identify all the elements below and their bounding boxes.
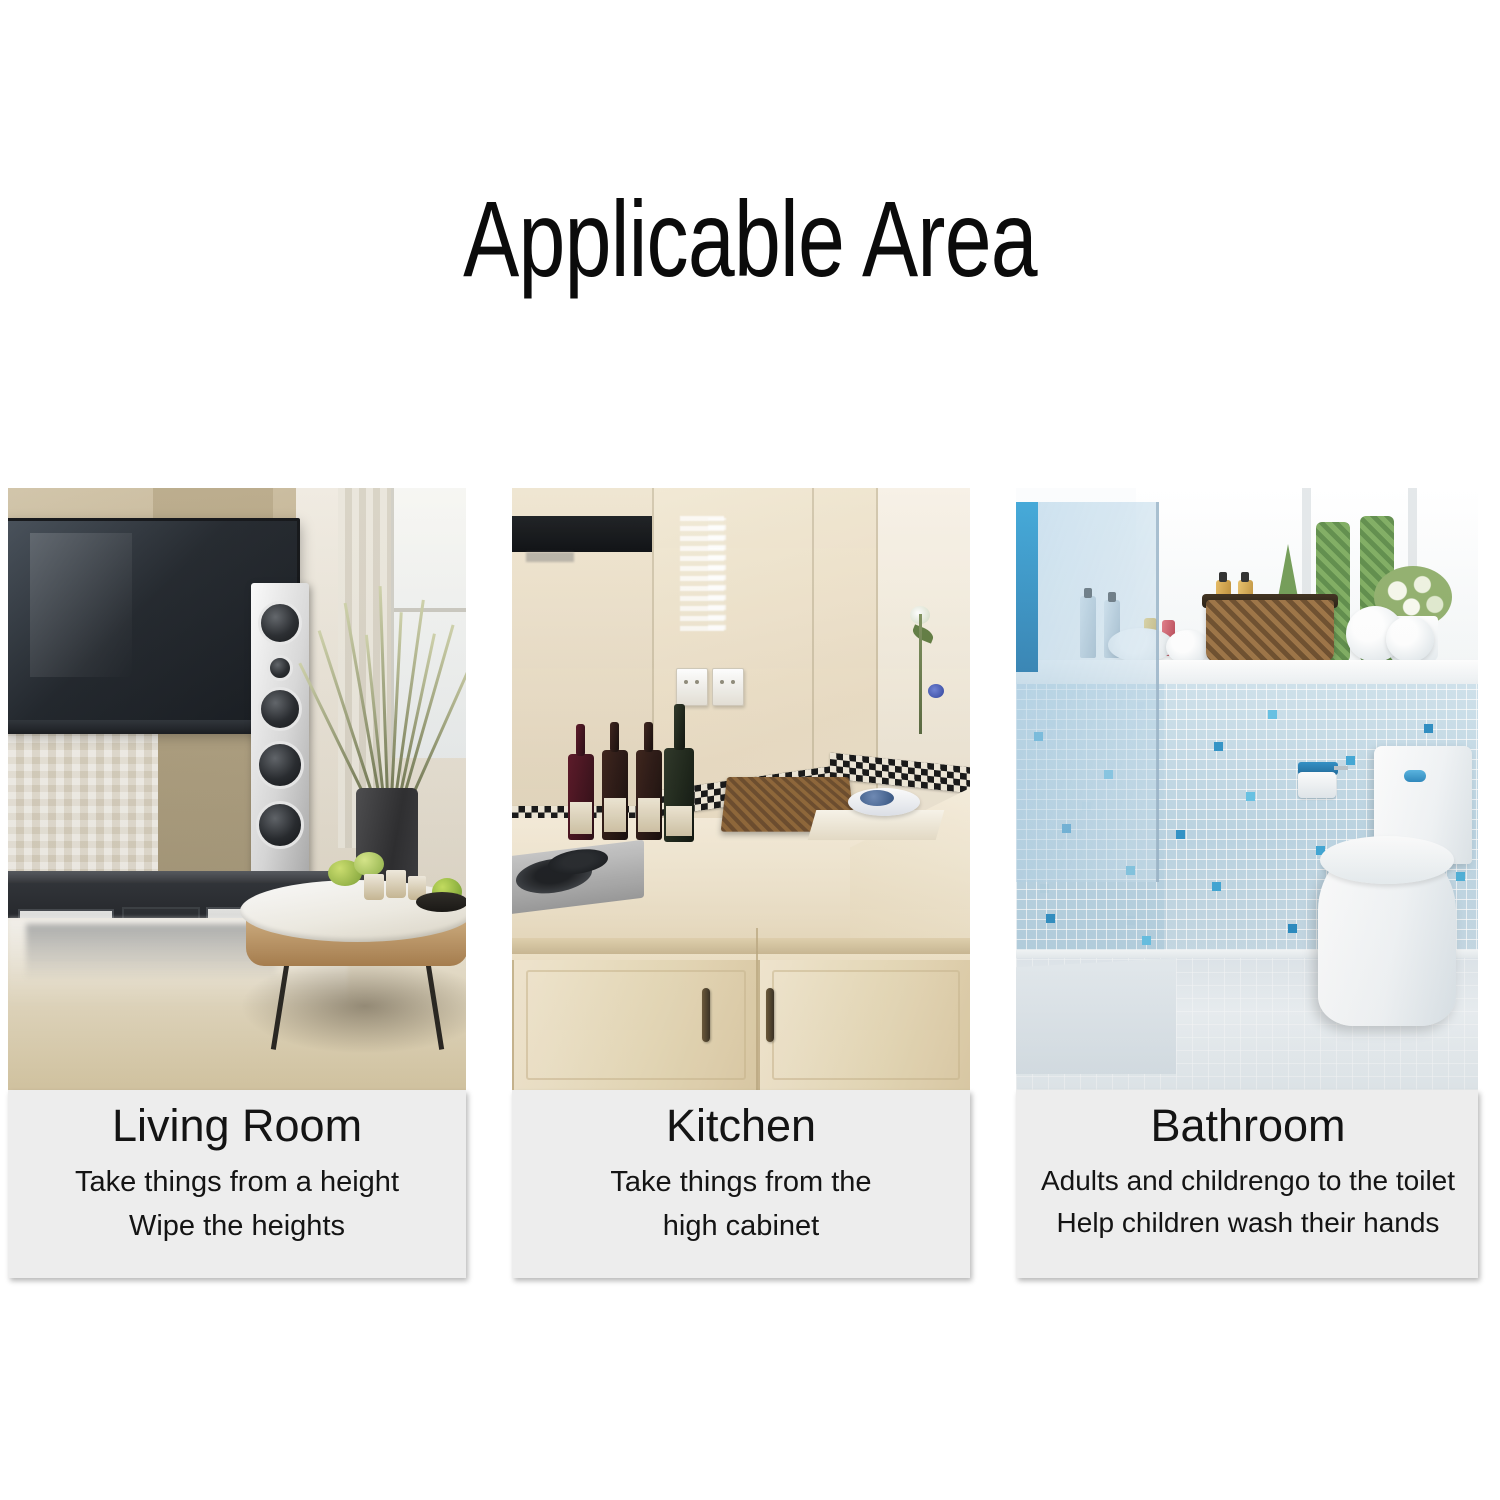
window-reflection — [708, 518, 726, 630]
speaker-driver — [256, 741, 304, 789]
cabinet-panel — [526, 970, 746, 1080]
dish-pattern — [860, 790, 894, 806]
kitchen-caption: Kitchen Take things from the high cabine… — [512, 1090, 970, 1278]
stove-burner — [548, 846, 608, 877]
shower-tray — [1016, 958, 1176, 1074]
toilet-lid — [1320, 836, 1454, 884]
bottle-cap — [1219, 572, 1227, 582]
panel-lines: Take things from the high cabinet — [512, 1160, 970, 1248]
living-room-photo — [8, 488, 466, 1090]
floor-reflection — [26, 924, 276, 980]
range-hood — [512, 516, 652, 552]
cabinet-handle[interactable] — [766, 988, 774, 1042]
bottle-label — [570, 802, 592, 834]
rolled-towel — [1386, 616, 1434, 662]
panel-line: Adults and childrengo to the toilet — [1018, 1160, 1478, 1203]
panel-title: Bathroom — [1018, 1100, 1478, 1152]
champagne-bottle-group — [660, 702, 700, 842]
living-room-caption: Living Room Take things from a height Wi… — [8, 1090, 466, 1278]
folded-towel — [1166, 630, 1210, 664]
wicker-basket — [1206, 600, 1334, 662]
cabinet-door[interactable] — [512, 960, 760, 1090]
panel-line: high cabinet — [512, 1204, 970, 1248]
power-outlet[interactable] — [676, 668, 708, 706]
panel-lines: Take things from a height Wipe the heigh… — [8, 1160, 466, 1248]
wine-bottle-group — [568, 724, 668, 840]
flower-stem — [919, 614, 922, 734]
cabinet-panel — [772, 970, 960, 1080]
cabinet-handle[interactable] — [702, 988, 710, 1042]
page-title: Applicable Area — [165, 185, 1335, 293]
panel-line: Help children wash their hands — [1018, 1202, 1478, 1245]
cabinet-door[interactable] — [758, 960, 970, 1090]
power-outlet[interactable] — [712, 668, 744, 706]
flower-icon — [928, 684, 944, 698]
panel-line: Wipe the heights — [8, 1204, 466, 1248]
bottle-neck — [674, 704, 685, 750]
bottle-label — [666, 806, 692, 836]
speaker-driver — [267, 655, 293, 681]
cup — [386, 870, 406, 898]
cup — [364, 874, 384, 900]
bottle-neck — [576, 724, 585, 756]
bathroom-caption: Bathroom Adults and childrengo to the to… — [1016, 1090, 1478, 1278]
toilet-paper-holder[interactable] — [1296, 760, 1350, 802]
tray — [416, 892, 466, 912]
range-hood-shadow — [526, 552, 574, 562]
bottle-label — [604, 798, 626, 832]
panel-kitchen[interactable]: Kitchen Take things from the high cabine… — [512, 488, 970, 1278]
glass-edge-reflection — [1016, 502, 1038, 672]
holder-arm — [1334, 766, 1348, 770]
panel-line: Take things from a height — [8, 1160, 466, 1204]
bottle-label — [638, 798, 660, 832]
speaker-driver — [258, 601, 302, 645]
cabinet-seam — [756, 928, 758, 1090]
countertop-edge — [512, 938, 970, 954]
panel-line: Take things from the — [512, 1160, 970, 1204]
bathroom-photo — [1016, 488, 1478, 1090]
bottle-neck — [610, 722, 619, 752]
wall-seam — [812, 488, 814, 788]
toilet-paper-roll — [1298, 772, 1336, 798]
speaker-driver — [258, 687, 302, 731]
panel-lines: Adults and childrengo to the toilet Help… — [1018, 1160, 1478, 1245]
applicable-area-panel-row: Living Room Take things from a height Wi… — [0, 488, 1500, 1288]
flush-button[interactable] — [1404, 770, 1426, 782]
tower-speaker-icon — [251, 583, 309, 893]
panel-title: Kitchen — [512, 1100, 970, 1152]
bottle-neck — [644, 722, 653, 752]
panel-bathroom[interactable]: Bathroom Adults and childrengo to the to… — [1016, 488, 1478, 1278]
kitchen-photo — [512, 488, 970, 1090]
plant-stalks — [328, 583, 448, 798]
bottle-cap — [1241, 572, 1249, 582]
panel-living-room[interactable]: Living Room Take things from a height Wi… — [8, 488, 466, 1278]
speaker-driver — [256, 801, 304, 849]
fruit — [354, 852, 384, 876]
panel-title: Living Room — [8, 1100, 466, 1152]
